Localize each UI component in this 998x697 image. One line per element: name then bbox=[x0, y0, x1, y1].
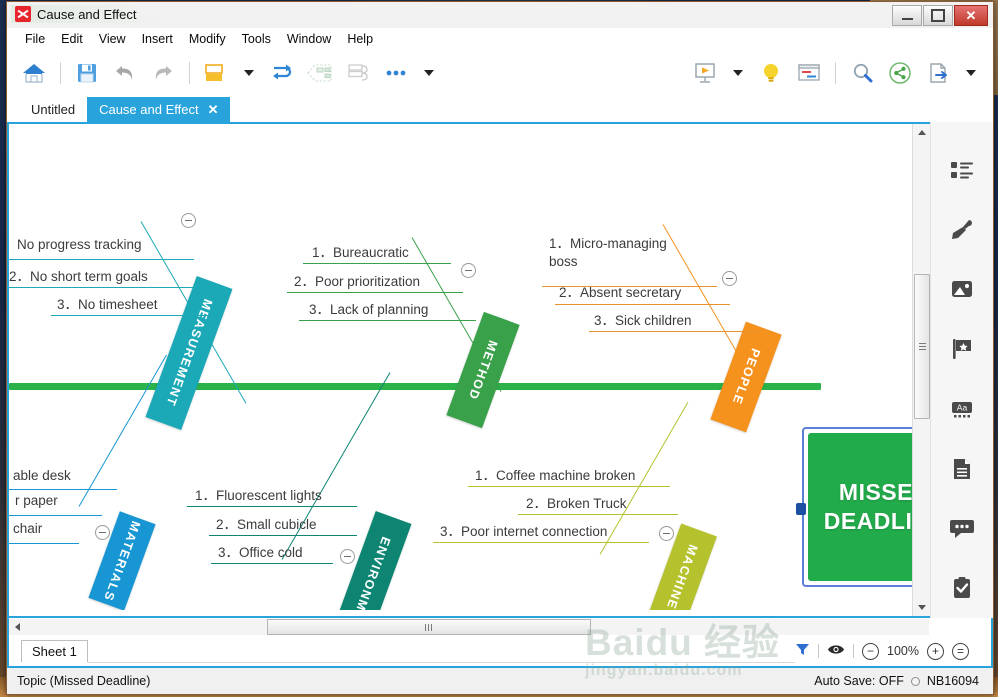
fishbone-head-box[interactable]: MISSED DEADLINE bbox=[802, 427, 915, 587]
cause-line-people-3 bbox=[589, 331, 759, 332]
close-icon[interactable]: ✕ bbox=[208, 102, 219, 118]
image-icon[interactable] bbox=[931, 260, 993, 320]
cause-people-1[interactable]: 1．Micro-managing boss bbox=[549, 235, 669, 271]
title-bar: Cause and Effect ✕ bbox=[7, 2, 993, 28]
document-icon[interactable] bbox=[931, 439, 993, 499]
minimize-icon bbox=[902, 18, 913, 20]
cause-environment-2[interactable]: 2．Small cubicle bbox=[216, 513, 317, 533]
sheet-row-filler bbox=[88, 640, 795, 663]
maximize-icon bbox=[931, 9, 945, 22]
scroll-down-button[interactable] bbox=[913, 599, 930, 616]
cause-machine-2[interactable]: 2．Broken Truck bbox=[526, 492, 627, 512]
zoom-level-label: 100% bbox=[887, 644, 919, 658]
multi-topic-icon[interactable] bbox=[339, 54, 377, 92]
maximize-button[interactable] bbox=[923, 5, 953, 26]
branch-label-people-text: PEOPLE bbox=[729, 347, 762, 407]
branch-label-people[interactable]: PEOPLE bbox=[710, 322, 781, 433]
toolbar bbox=[7, 50, 993, 96]
scrollbar-grip-icon bbox=[919, 343, 926, 350]
cause-machine-1[interactable]: 1．Coffee machine broken bbox=[475, 464, 635, 484]
presentation-icon[interactable] bbox=[686, 54, 724, 92]
redo-icon[interactable] bbox=[144, 54, 182, 92]
status-bar-right: Auto Save: OFF NB16094 bbox=[814, 674, 979, 688]
brush-icon[interactable] bbox=[931, 200, 993, 260]
tab-untitled[interactable]: Untitled bbox=[19, 97, 87, 122]
title-bar-left: Cause and Effect bbox=[11, 5, 163, 23]
gantt-icon[interactable] bbox=[790, 54, 828, 92]
cause-measurement-2[interactable]: 2．No short term goals bbox=[9, 265, 148, 285]
menu-item-edit[interactable]: Edit bbox=[53, 31, 91, 47]
close-button[interactable]: ✕ bbox=[954, 5, 988, 26]
right-icon-rail: Aa bbox=[930, 122, 993, 618]
cause-line-environment-2 bbox=[209, 535, 357, 536]
svg-text:Aa: Aa bbox=[957, 402, 968, 412]
fishbone-spine bbox=[9, 383, 821, 390]
status-topic-label: Topic (Missed Deadline) bbox=[17, 674, 150, 688]
collapse-minus-icon-machine[interactable] bbox=[659, 526, 674, 541]
task-clipboard-icon[interactable] bbox=[931, 558, 993, 618]
cause-line-materials-2 bbox=[9, 515, 102, 516]
branch-label-environment-text: ENVIRONMENT bbox=[343, 535, 393, 610]
branch-label-method[interactable]: METHOD bbox=[446, 312, 519, 428]
vertical-scrollbar[interactable] bbox=[912, 124, 930, 616]
cause-materials-2[interactable]: r paper bbox=[15, 493, 58, 508]
head-title-line1: MISSED bbox=[839, 478, 915, 507]
collapse-minus-icon-environment[interactable] bbox=[340, 549, 355, 564]
cause-line-method-3 bbox=[299, 320, 476, 321]
cause-method-2[interactable]: 2．Poor prioritization bbox=[294, 270, 420, 290]
zoom-out-button[interactable]: − bbox=[862, 643, 879, 660]
zoom-separator-1 bbox=[818, 644, 819, 658]
document-tab-strip: Untitled Cause and Effect ✕ bbox=[7, 96, 993, 122]
export-icon[interactable] bbox=[919, 54, 957, 92]
more-dropdown-caret-icon[interactable] bbox=[424, 70, 434, 76]
tab-cause-and-effect-label: Cause and Effect bbox=[99, 102, 199, 117]
window-title: Cause and Effect bbox=[37, 7, 137, 22]
vertical-scrollbar-thumb[interactable] bbox=[914, 274, 930, 419]
menu-item-window[interactable]: Window bbox=[279, 31, 339, 47]
horizontal-scrollbar[interactable] bbox=[9, 619, 929, 635]
branch-label-method-text: METHOD bbox=[466, 338, 501, 402]
more-options-icon[interactable] bbox=[377, 54, 415, 92]
cause-people-2[interactable]: 2．Absent secretary bbox=[559, 281, 681, 301]
outline-icon[interactable] bbox=[931, 140, 993, 200]
cause-line-method-1 bbox=[303, 263, 451, 264]
cause-line-materials-1 bbox=[9, 489, 117, 490]
horizontal-scroll-row bbox=[7, 618, 993, 636]
cause-line-measurement-1 bbox=[9, 259, 194, 260]
branch-label-measurement[interactable]: MEASUREMENT bbox=[145, 276, 232, 430]
zoom-in-button[interactable]: + bbox=[927, 643, 944, 660]
cause-line-people-2 bbox=[555, 304, 730, 305]
cause-line-materials-3 bbox=[9, 543, 79, 544]
toolbar-separator-1 bbox=[60, 62, 61, 84]
theme-icon[interactable] bbox=[197, 54, 235, 92]
cause-measurement-3[interactable]: 3．No timesheet bbox=[57, 293, 158, 313]
filter-icon[interactable] bbox=[795, 642, 810, 660]
cause-line-method-2 bbox=[287, 292, 463, 293]
zoom-controls: − 100% + = bbox=[795, 642, 991, 660]
subtopic-layout-icon[interactable] bbox=[301, 54, 339, 92]
hscrollbar-grip-icon bbox=[425, 624, 434, 631]
cause-method-1[interactable]: 1．Bureaucratic bbox=[312, 241, 409, 261]
autosave-label: Auto Save: OFF bbox=[814, 674, 904, 688]
branch-label-machine-text: MACHINE bbox=[664, 543, 700, 610]
save-icon[interactable] bbox=[68, 54, 106, 92]
brainstorm-bulb-icon[interactable] bbox=[752, 54, 790, 92]
zoom-separator-2 bbox=[853, 644, 854, 658]
theme-dropdown-caret-icon[interactable] bbox=[244, 70, 254, 76]
app-logo-icon bbox=[15, 6, 31, 22]
cause-materials-1[interactable]: able desk bbox=[13, 468, 71, 483]
collapse-minus-icon-method[interactable] bbox=[461, 263, 476, 278]
toolbar-separator-3 bbox=[835, 62, 836, 84]
scroll-left-icon bbox=[15, 623, 20, 631]
cause-people-3[interactable]: 3．Sick children bbox=[594, 309, 692, 329]
scroll-left-button[interactable] bbox=[9, 619, 26, 635]
menu-item-modify[interactable]: Modify bbox=[181, 31, 234, 47]
cause-line-machine-3 bbox=[433, 542, 649, 543]
menu-item-tools[interactable]: Tools bbox=[234, 31, 279, 47]
scroll-down-icon bbox=[918, 605, 926, 610]
toolbar-separator-2 bbox=[189, 62, 190, 84]
export-caret-icon[interactable] bbox=[966, 70, 976, 76]
canvas-wrapper: MEASUREMENT No progress tracking 2．No sh… bbox=[7, 122, 930, 618]
fishbone-head-fill: MISSED DEADLINE bbox=[808, 433, 915, 581]
flag-icon[interactable] bbox=[931, 319, 993, 379]
head-title-line2: DEADLINE bbox=[824, 507, 915, 536]
comment-icon[interactable] bbox=[931, 499, 993, 559]
window-controls: ✕ bbox=[892, 5, 988, 26]
branch-stem-materials bbox=[79, 355, 167, 507]
device-label: NB16094 bbox=[927, 674, 979, 688]
menu-item-insert[interactable]: Insert bbox=[134, 31, 181, 47]
branch-label-environment[interactable]: ENVIRONMENT bbox=[324, 511, 411, 610]
menu-item-help[interactable]: Help bbox=[339, 31, 381, 47]
home-icon[interactable] bbox=[15, 54, 53, 92]
scroll-up-icon bbox=[918, 130, 926, 135]
search-icon[interactable] bbox=[843, 54, 881, 92]
status-bar: Topic (Missed Deadline) Auto Save: OFF N… bbox=[7, 668, 993, 694]
share-icon[interactable] bbox=[881, 54, 919, 92]
cause-line-machine-1 bbox=[468, 486, 670, 487]
cause-measurement-1[interactable]: No progress tracking bbox=[17, 237, 142, 252]
branch-label-machine[interactable]: MACHINE bbox=[647, 524, 717, 610]
cause-line-environment-3 bbox=[211, 563, 333, 564]
device-status-dot-icon bbox=[911, 677, 920, 686]
cause-environment-1[interactable]: 1．Fluorescent lights bbox=[195, 484, 322, 504]
cause-materials-3[interactable]: chair bbox=[13, 521, 42, 536]
swap-layout-icon[interactable] bbox=[263, 54, 301, 92]
cause-line-environment-1 bbox=[187, 506, 357, 507]
scroll-up-button[interactable] bbox=[913, 124, 930, 141]
main-body: MEASUREMENT No progress tracking 2．No sh… bbox=[7, 122, 993, 618]
cause-machine-3[interactable]: 3．Poor internet connection bbox=[440, 520, 607, 540]
horizontal-scrollbar-thumb[interactable] bbox=[267, 619, 591, 635]
collapse-minus-icon-measurement[interactable] bbox=[181, 213, 196, 228]
application-window: Cause and Effect ✕ File Edit View Insert… bbox=[6, 1, 994, 695]
menu-item-view[interactable]: View bbox=[91, 31, 134, 47]
sheet-row: Sheet 1 − 100% + = bbox=[7, 636, 993, 668]
text-aa-icon[interactable]: Aa bbox=[931, 379, 993, 439]
head-connector-nub bbox=[796, 503, 806, 515]
menu-bar: File Edit View Insert Modify Tools Windo… bbox=[7, 28, 993, 50]
collapse-minus-icon-people[interactable] bbox=[722, 271, 737, 286]
eye-icon[interactable] bbox=[827, 643, 845, 659]
tab-untitled-label: Untitled bbox=[31, 102, 75, 117]
undo-icon[interactable] bbox=[106, 54, 144, 92]
diagram-canvas[interactable]: MEASUREMENT No progress tracking 2．No sh… bbox=[9, 124, 915, 610]
cause-line-measurement-2 bbox=[9, 287, 209, 288]
minimize-button[interactable] bbox=[892, 5, 922, 26]
presentation-caret-icon[interactable] bbox=[733, 70, 743, 76]
cause-method-3[interactable]: 3．Lack of planning bbox=[309, 298, 428, 318]
cause-environment-3[interactable]: 3．Office cold bbox=[218, 541, 303, 561]
collapse-minus-icon-materials[interactable] bbox=[95, 525, 110, 540]
cause-line-machine-2 bbox=[518, 514, 678, 515]
cause-line-measurement-3 bbox=[51, 315, 223, 316]
zoom-fit-button[interactable]: = bbox=[952, 643, 969, 660]
tab-cause-and-effect[interactable]: Cause and Effect ✕ bbox=[87, 97, 230, 122]
menu-item-file[interactable]: File bbox=[17, 31, 53, 47]
sheet-tab-1[interactable]: Sheet 1 bbox=[21, 640, 88, 662]
